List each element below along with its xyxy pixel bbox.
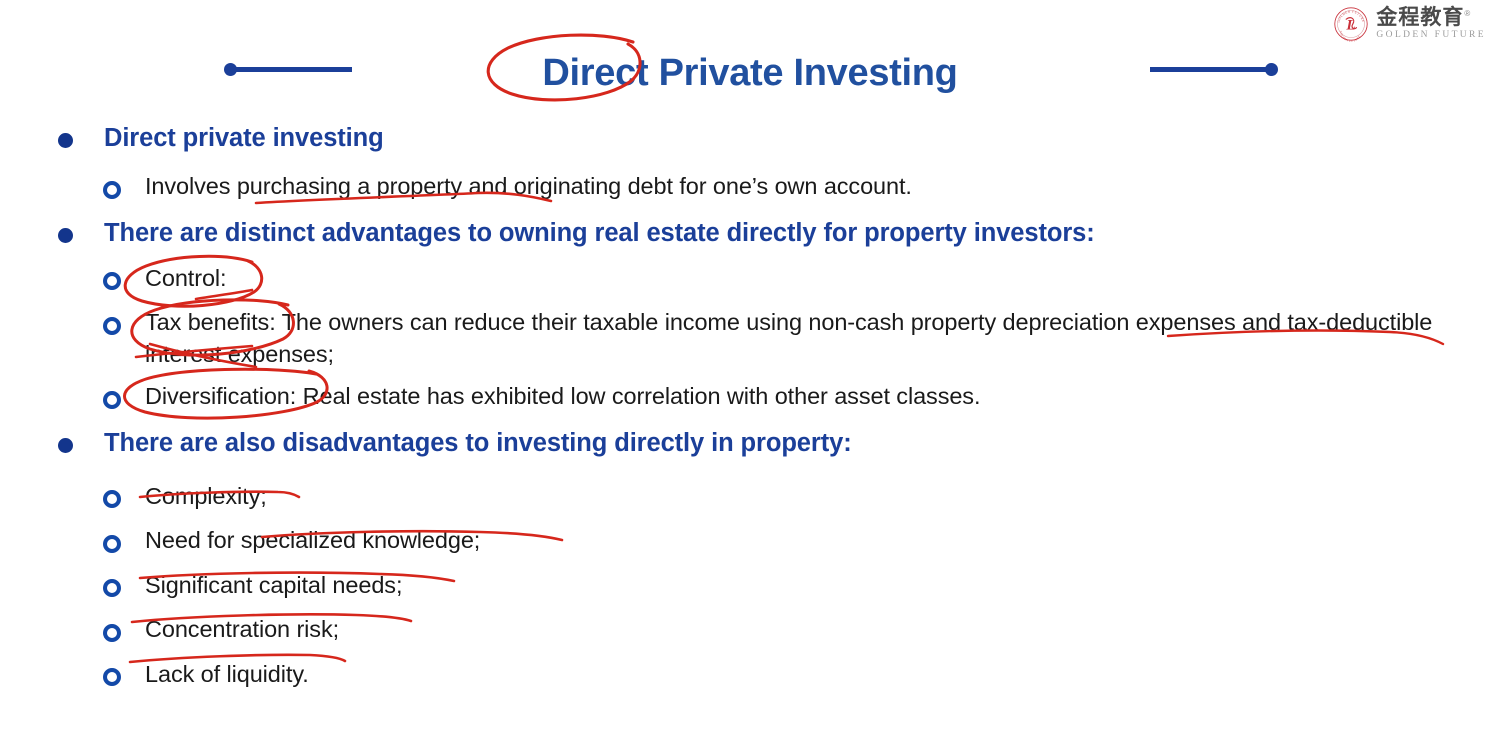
slide-body: Direct private investing Involves purcha…: [0, 118, 1500, 690]
bullet-ring-icon: [103, 668, 121, 686]
sub-bullet-label: Diversification: Real estate has exhibit…: [145, 383, 980, 409]
bullet-label: Direct private investing: [104, 124, 384, 152]
bullet-ring-icon: [103, 535, 121, 553]
sub-bullet-lack-of-liquidity: Lack of liquidity.: [0, 659, 1500, 690]
bullet-ring-icon: [103, 317, 121, 335]
bullet-also-disadvantages: There are also disadvantages to investin…: [0, 427, 1500, 459]
sub-bullet-concentration-risk: Concentration risk;: [0, 614, 1500, 645]
bullet-dot-icon: [58, 133, 73, 148]
bullet-ring-icon: [103, 272, 121, 290]
bullet-ring-icon: [103, 624, 121, 642]
page-title: Direct Private Investing: [0, 44, 1500, 102]
sub-bullet-involves-purchasing: Involves purchasing a property and origi…: [0, 171, 1500, 202]
logo-wordmark: 金程教育® GOLDEN FUTURE: [1376, 7, 1486, 41]
bullet-label: There are also disadvantages to investin…: [104, 429, 852, 457]
sub-bullet-label: Complexity;: [145, 483, 267, 509]
logo-name-en: GOLDEN FUTURE: [1376, 31, 1486, 41]
brand-logo: GOLDEN FUTURE EDU GOLDEN FUTURE L 金程教育® …: [1333, 6, 1486, 42]
sub-bullet-specialized-knowledge: Need for specialized knowledge;: [0, 525, 1500, 556]
sub-bullet-label: Concentration risk;: [145, 616, 339, 642]
bullet-ring-icon: [103, 391, 121, 409]
sub-bullet-label: Tax benefits: The owners can reduce thei…: [145, 309, 1432, 366]
title-bar: Direct Private Investing: [0, 44, 1500, 106]
sub-bullet-label: Significant capital needs;: [145, 572, 402, 598]
bullet-direct-private-investing: Direct private investing: [0, 122, 1500, 154]
bullet-dot-icon: [58, 438, 73, 453]
sub-bullet-complexity: Complexity;: [0, 481, 1500, 512]
logo-name-cn: 金程教育: [1376, 6, 1464, 29]
registered-mark-icon: ®: [1464, 9, 1471, 18]
bullet-ring-icon: [103, 490, 121, 508]
sub-bullet-label: Need for specialized knowledge;: [145, 527, 480, 553]
sub-bullet-label: Lack of liquidity.: [145, 661, 309, 687]
sub-bullet-control: Control:: [0, 263, 1500, 294]
sub-bullet-tax-benefits: Tax benefits: The owners can reduce thei…: [0, 307, 1500, 370]
bullet-ring-icon: [103, 579, 121, 597]
bullet-distinct-advantages: There are distinct advantages to owning …: [0, 217, 1500, 249]
sub-bullet-label: Involves purchasing a property and origi…: [145, 173, 912, 199]
bullet-label: There are distinct advantages to owning …: [104, 219, 1095, 247]
sub-bullet-diversification: Diversification: Real estate has exhibit…: [0, 381, 1500, 412]
sub-bullet-capital-needs: Significant capital needs;: [0, 570, 1500, 601]
bullet-dot-icon: [58, 228, 73, 243]
circular-seal-icon: GOLDEN FUTURE EDU GOLDEN FUTURE L: [1333, 6, 1369, 42]
bullet-ring-icon: [103, 181, 121, 199]
sub-bullet-label: Control:: [145, 265, 227, 291]
